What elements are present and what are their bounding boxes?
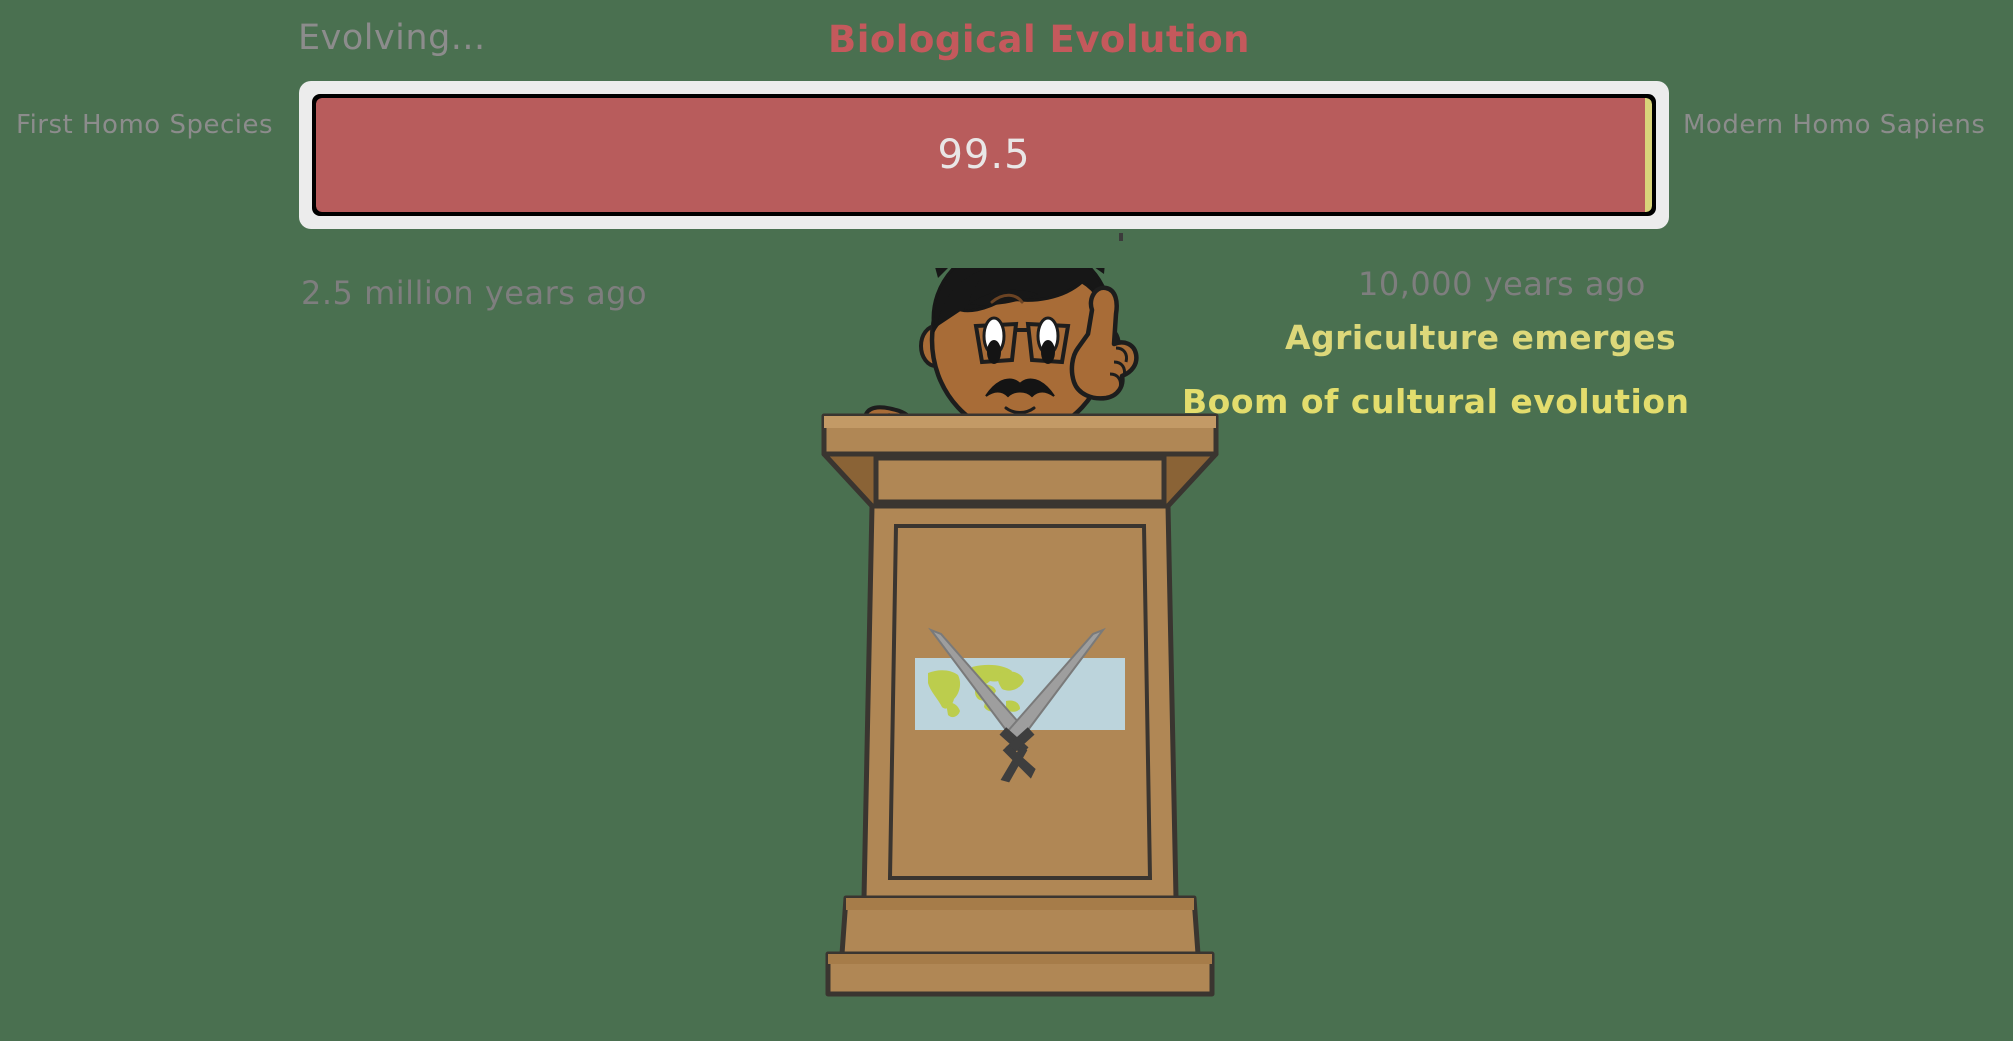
- progress-bar-value-label: 99.5: [312, 132, 1656, 178]
- progress-bar-track: 99.5: [312, 94, 1656, 216]
- progress-bar[interactable]: 99.5: [299, 81, 1669, 229]
- podium: [824, 416, 1216, 994]
- timeline-start-time-label: 2.5 million years ago: [301, 274, 647, 312]
- timeline-end-time-label: 10,000 years ago: [1358, 265, 1646, 303]
- page-title: Biological Evolution: [828, 18, 1250, 61]
- timeline-end-label: Modern Homo Sapiens: [1683, 110, 1985, 140]
- event-label-agriculture: Agriculture emerges: [1285, 318, 1676, 357]
- event-label-cultural-evolution: Boom of cultural evolution: [1182, 382, 1689, 421]
- status-label: Evolving...: [298, 18, 486, 58]
- timeline-start-label: First Homo Species: [16, 110, 273, 140]
- timeline-tick-marker: [1119, 233, 1123, 241]
- canvas: Evolving... Biological Evolution First H…: [0, 0, 2013, 1041]
- lecturer-at-podium-illustration: [820, 268, 1220, 998]
